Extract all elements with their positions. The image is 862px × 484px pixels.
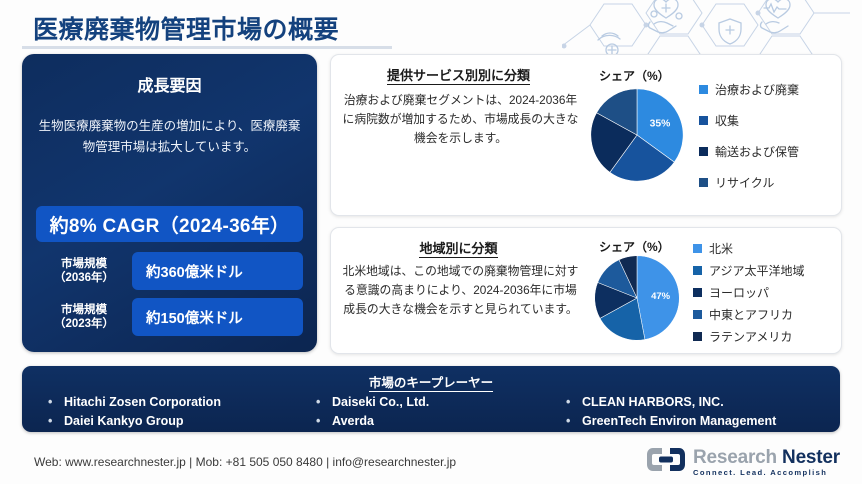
region-card-title-text: 地域別に分類 — [419, 241, 497, 258]
player-name: GreenTech Environ Management — [582, 412, 776, 431]
legend-label: ヨーロッパ — [709, 284, 769, 301]
logo-name-research: Research — [693, 447, 777, 468]
title-divider — [22, 46, 392, 49]
growth-factor-panel: 成長要因 生物医療廃棄物の生産の増加により、医療廃棄物管理市場は拡大しています。… — [22, 54, 317, 352]
service-card-body: 治療および廃棄セグメントは、2024-2036年に病院数が増加するため、市場成長… — [339, 91, 582, 148]
legend-item: 輸送および保管 — [699, 143, 799, 160]
infographic-root: 医療廃棄物管理市場の概要 成長要因 生物医療廃棄物の生産の増加により、医療廃棄物… — [0, 0, 862, 484]
key-players-column-1: • Hitachi Zosen Corporation • Daiei Kank… — [22, 393, 302, 432]
logo-wordmark: Research Nester Connect. Lead. Accomplis… — [693, 448, 840, 477]
legend-label: アジア太平洋地域 — [709, 262, 805, 279]
decorative-hexagon-band — [562, 0, 862, 62]
service-segmentation-card: 提供サービス別別に分類 治療および廃棄セグメントは、2024-2036年に病院数… — [330, 54, 842, 216]
bullet-icon: • — [566, 412, 582, 431]
market-size-2036-label-line1: 市場規模 — [36, 257, 132, 271]
legend-item: 収集 — [699, 112, 799, 129]
legend-label: 輸送および保管 — [715, 143, 799, 160]
shield-cross-icon — [719, 19, 741, 44]
list-item: • Daiseki Co., Ltd. — [316, 393, 552, 412]
service-card-title: 提供サービス別別に分類 — [331, 65, 586, 84]
legend-swatch-icon — [693, 310, 702, 319]
growth-panel-heading: 成長要因 — [22, 72, 317, 96]
market-size-2023-row: 市場規模 （2023年） 約150億米ドル — [36, 298, 303, 336]
heartbeat-hand-icon — [761, 0, 791, 33]
bullet-icon: • — [48, 393, 64, 412]
page-title: 医療廃棄物管理市場の概要 — [33, 10, 339, 46]
pie-slice-label: 47% — [651, 291, 671, 302]
logo-name-nester: Nester — [782, 447, 840, 468]
legend-swatch-icon — [693, 288, 702, 297]
legend-label: 収集 — [715, 112, 739, 129]
legend-swatch-icon — [699, 116, 708, 125]
legend-swatch-icon — [693, 266, 702, 275]
region-segmentation-card: 地域別に分類 北米地域は、この地域での廃棄物管理に対する意識の高まりにより、20… — [330, 227, 842, 354]
research-nester-logo: Research Nester Connect. Lead. Accomplis… — [646, 446, 840, 478]
market-size-2023-label: 市場規模 （2023年） — [36, 303, 132, 332]
logo-tagline: Connect. Lead. Accomplish — [693, 469, 840, 477]
legend-label: 中東とアフリカ — [709, 306, 793, 323]
list-item: • Hitachi Zosen Corporation — [48, 393, 302, 412]
legend-swatch-icon — [693, 244, 702, 253]
legend-item: 北米 — [693, 240, 805, 257]
legend-item: アジア太平洋地域 — [693, 262, 805, 279]
legend-label: 治療および廃棄 — [715, 81, 799, 98]
bullet-icon: • — [48, 412, 64, 431]
service-share-label: シェア（%） — [599, 67, 670, 84]
bullet-icon: • — [316, 412, 332, 431]
player-name: CLEAN HARBORS, INC. — [582, 393, 724, 412]
legend-swatch-icon — [699, 147, 708, 156]
list-item: • GreenTech Environ Management — [566, 412, 840, 431]
logo-mark-icon — [646, 446, 686, 478]
service-card-title-text: 提供サービス別別に分類 — [387, 68, 530, 85]
logo-name: Research Nester — [693, 448, 840, 467]
cagr-badge: 約8% CAGR（2024-36年） — [36, 206, 303, 242]
player-name: Hitachi Zosen Corporation — [64, 393, 221, 412]
player-name: Daiseki Co., Ltd. — [332, 393, 429, 412]
player-name: Averda — [332, 412, 374, 431]
region-pie-legend: 北米アジア太平洋地域ヨーロッパ中東とアフリカラテンアメリカ — [693, 240, 805, 345]
legend-label: 北米 — [709, 240, 733, 257]
legend-label: ラテンアメリカ — [709, 328, 792, 345]
service-pie-chart: 35% — [589, 87, 685, 188]
market-size-2036-label-line2: （2036年） — [36, 271, 132, 285]
legend-item: リサイクル — [699, 174, 799, 191]
region-card-body: 北米地域は、この地域での廃棄物管理に対する意識の高まりにより、2024-2036… — [339, 262, 582, 319]
legend-item: ラテンアメリカ — [693, 328, 805, 345]
key-players-column-2: • Daiseki Co., Ltd. • Averda — [302, 393, 552, 432]
list-item: • CLEAN HARBORS, INC. — [566, 393, 840, 412]
list-item: • Averda — [316, 412, 552, 431]
key-players-panel: 市場のキープレーヤー • Hitachi Zosen Corporation •… — [22, 366, 840, 432]
key-players-title-text: 市場のキープレーヤー — [369, 376, 493, 392]
legend-label: リサイクル — [715, 174, 774, 191]
growth-panel-description: 生物医療廃棄物の生産の増加により、医療廃棄物管理市場は拡大しています。 — [38, 116, 301, 157]
hand-holding-heart-icon — [649, 0, 683, 33]
key-players-columns: • Hitachi Zosen Corporation • Daiei Kank… — [22, 393, 840, 432]
market-size-2023-label-line1: 市場規模 — [36, 303, 132, 317]
legend-swatch-icon — [693, 332, 702, 341]
market-size-2036-label: 市場規模 （2036年） — [36, 257, 132, 286]
region-card-title: 地域別に分類 — [331, 238, 586, 257]
market-size-2036-value: 約360億米ドル — [132, 252, 303, 290]
market-size-2023-label-line2: （2023年） — [36, 317, 132, 331]
bullet-icon: • — [566, 393, 582, 412]
player-name: Daiei Kankyo Group — [64, 412, 183, 431]
bullet-icon: • — [316, 393, 332, 412]
region-pie-chart: 47% — [593, 254, 681, 347]
legend-swatch-icon — [699, 85, 708, 94]
pie-slice-label: 35% — [650, 119, 671, 130]
market-size-2023-value: 約150億米ドル — [132, 298, 303, 336]
legend-item: 中東とアフリカ — [693, 306, 805, 323]
hands-care-icon — [598, 33, 620, 56]
region-share-label: シェア（%） — [599, 238, 670, 255]
key-players-title: 市場のキープレーヤー — [22, 372, 840, 391]
footer-contact-info: Web: www.researchnester.jp | Mob: +81 50… — [34, 455, 456, 469]
key-players-column-3: • CLEAN HARBORS, INC. • GreenTech Enviro… — [552, 393, 840, 432]
service-pie-legend: 治療および廃棄収集輸送および保管リサイクル — [699, 81, 799, 191]
list-item: • Daiei Kankyo Group — [48, 412, 302, 431]
market-size-2036-row: 市場規模 （2036年） 約360億米ドル — [36, 252, 303, 290]
legend-item: ヨーロッパ — [693, 284, 805, 301]
legend-item: 治療および廃棄 — [699, 81, 799, 98]
legend-swatch-icon — [699, 178, 708, 187]
